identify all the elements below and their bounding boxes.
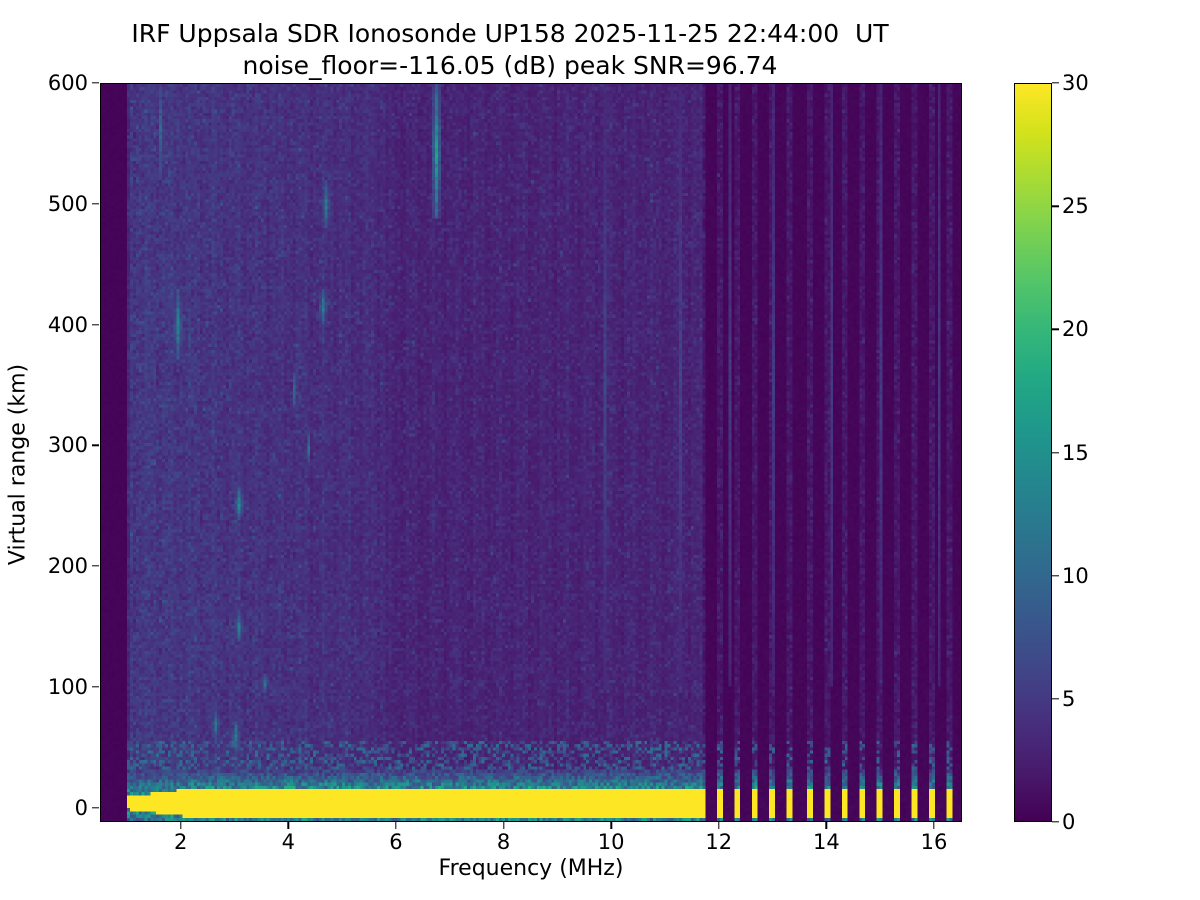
- x-tick-label: 8: [497, 830, 510, 854]
- y-tick-label: 200: [48, 554, 88, 578]
- title-line-1: IRF Uppsala SDR Ionosonde UP158 2025-11-…: [0, 18, 1020, 50]
- y-tick-label: 100: [48, 675, 88, 699]
- x-tick-label: 2: [174, 830, 187, 854]
- colorbar-tick-label: 5: [1062, 687, 1075, 711]
- y-tick-label: 500: [48, 192, 88, 216]
- y-tick-label: 0: [75, 796, 88, 820]
- x-tick-mark: [288, 822, 289, 829]
- x-tick-mark: [933, 822, 934, 829]
- y-tick-label: 400: [48, 313, 88, 337]
- colorbar-tick-label: 10: [1062, 564, 1089, 588]
- colorbar-tick-mark: [1052, 698, 1059, 699]
- colorbar-tick-label: 0: [1062, 810, 1075, 834]
- x-tick-mark: [180, 822, 181, 829]
- ionogram-plot-area[interactable]: [100, 83, 962, 822]
- colorbar-tick-mark: [1052, 452, 1059, 453]
- x-tick-label: 6: [389, 830, 402, 854]
- colorbar-gradient: [1014, 83, 1052, 822]
- ionogram-figure: IRF Uppsala SDR Ionosonde UP158 2025-11-…: [0, 0, 1200, 900]
- x-tick-label: 10: [598, 830, 625, 854]
- colorbar-tick-mark: [1052, 575, 1059, 576]
- y-tick-mark: [92, 565, 99, 566]
- figure-title: IRF Uppsala SDR Ionosonde UP158 2025-11-…: [0, 18, 1020, 82]
- y-tick-label: 600: [48, 71, 88, 95]
- colorbar-tick-mark: [1052, 329, 1059, 330]
- x-tick-mark: [718, 822, 719, 829]
- x-tick-label: 16: [921, 830, 948, 854]
- colorbar[interactable]: [1014, 83, 1052, 822]
- colorbar-tick-label: 15: [1062, 441, 1089, 465]
- y-tick-mark: [92, 82, 99, 83]
- colorbar-tick-mark: [1052, 205, 1059, 206]
- x-tick-mark: [395, 822, 396, 829]
- x-tick-label: 12: [705, 830, 732, 854]
- colorbar-tick-label: 30: [1062, 71, 1089, 95]
- x-tick-mark: [610, 822, 611, 829]
- y-tick-mark: [92, 203, 99, 204]
- colorbar-tick-mark: [1052, 82, 1059, 83]
- x-tick-label: 4: [282, 830, 295, 854]
- ionogram-heatmap: [101, 84, 961, 821]
- y-axis-label: Virtual range (km): [6, 255, 31, 675]
- x-tick-label: 14: [813, 830, 840, 854]
- y-tick-mark: [92, 445, 99, 446]
- y-tick-label: 300: [48, 433, 88, 457]
- colorbar-tick-label: 25: [1062, 194, 1089, 218]
- x-axis-label: Frequency (MHz): [100, 856, 962, 881]
- y-tick-mark: [92, 686, 99, 687]
- y-tick-mark: [92, 324, 99, 325]
- x-tick-mark: [826, 822, 827, 829]
- y-tick-mark: [92, 807, 99, 808]
- colorbar-tick-label: 20: [1062, 317, 1089, 341]
- x-tick-mark: [503, 822, 504, 829]
- title-line-2: noise_floor=-116.05 (dB) peak SNR=96.74: [0, 50, 1020, 82]
- colorbar-tick-mark: [1052, 821, 1059, 822]
